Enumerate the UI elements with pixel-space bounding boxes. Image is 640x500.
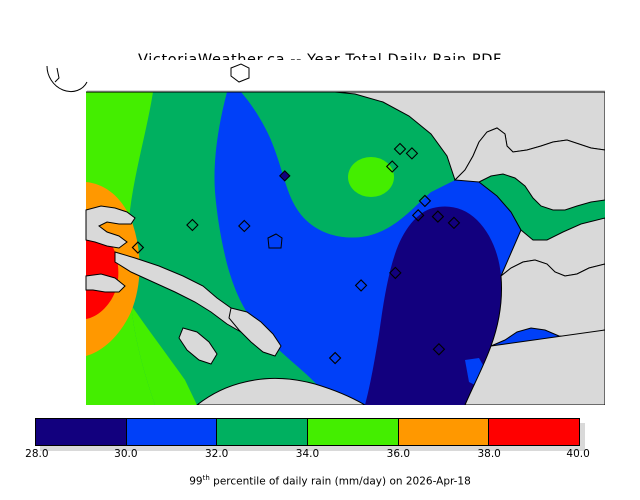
- colorbar-tick-1: 30.0: [114, 448, 137, 460]
- map-left-margin: [35, 88, 87, 405]
- map-panel: [35, 60, 605, 405]
- colorbar-tick-6: 40.0: [566, 448, 589, 460]
- contour-blob-34-36: [348, 157, 394, 197]
- colorbar-tick-3: 34.0: [296, 448, 319, 460]
- colorbar-caption: 99th percentile of daily rain (mm/day) o…: [35, 462, 605, 500]
- colorbar-tick-0: 28.0: [25, 448, 48, 460]
- colorbar-band-3[interactable]: [308, 419, 399, 445]
- contour-map: [35, 60, 605, 405]
- colorbar-band-5[interactable]: [489, 419, 579, 445]
- colorbar-band-1[interactable]: [127, 419, 218, 445]
- colorbar-tick-4: 36.0: [387, 448, 410, 460]
- colorbar-tick-2: 32.0: [205, 448, 228, 460]
- caption-ordinal: th: [203, 474, 210, 482]
- caption-prefix: 99: [189, 476, 202, 488]
- colorbar-ticks: 28.030.032.034.036.038.040.0: [35, 448, 582, 462]
- map-top-margin: [35, 60, 605, 90]
- colorbar-band-4[interactable]: [399, 419, 490, 445]
- colorbar-band-0[interactable]: [36, 419, 127, 445]
- colorbar-panel: 28.030.032.034.036.038.040.0 99th percen…: [35, 416, 605, 478]
- weather-map-page: VictoriaWeather.ca -- Year Total Daily R…: [0, 0, 640, 480]
- caption-suffix: percentile of daily rain (mm/day) on 202…: [210, 476, 471, 488]
- colorbar-tick-5: 38.0: [477, 448, 500, 460]
- colorbar[interactable]: [35, 418, 580, 446]
- colorbar-band-2[interactable]: [217, 419, 308, 445]
